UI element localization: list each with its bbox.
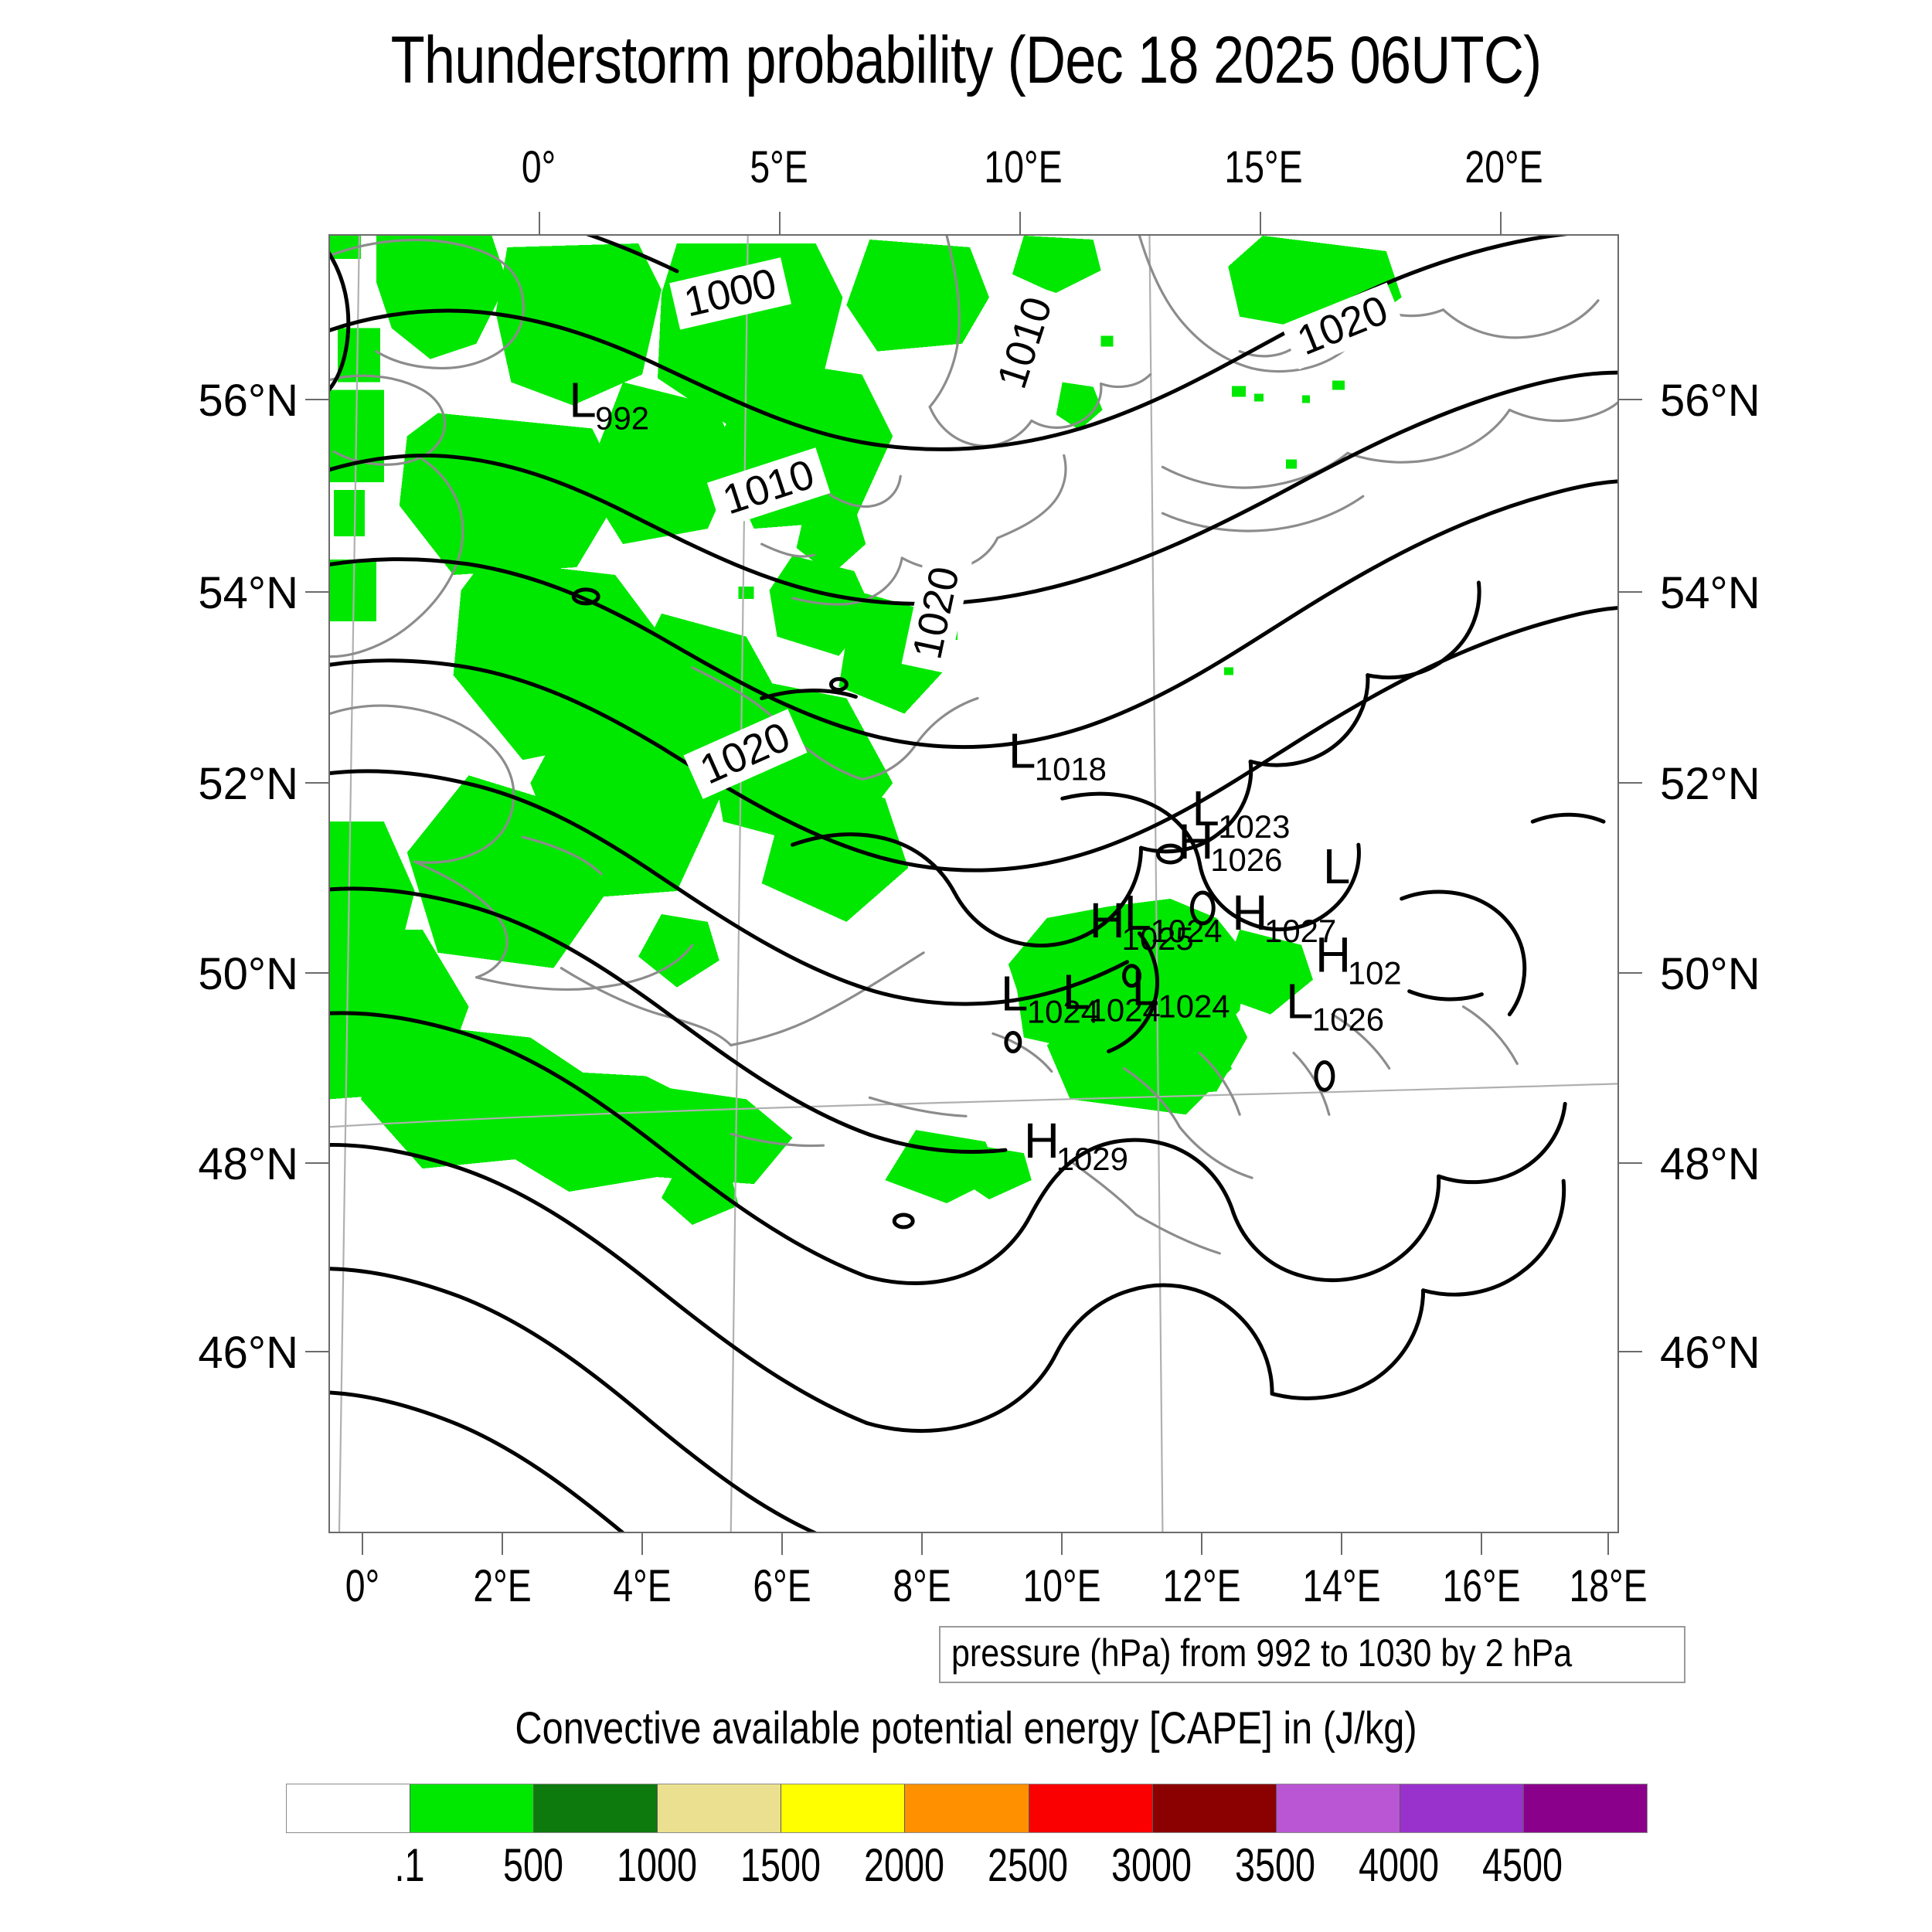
tick-top-4 [1500,212,1502,235]
bottom-axis-label-9: 18°E [1568,1564,1648,1609]
colorbar-label-5: 2500 [988,1841,1068,1890]
tick-top-0 [539,212,540,235]
pressure-center-symbol: H [1024,1113,1060,1168]
tick-bot-8 [1481,1533,1482,1555]
tick-bot-5 [1061,1533,1063,1555]
tick-right-1 [1619,591,1642,593]
pressure-center-symbol: L [1132,961,1159,1016]
right-axis-label-5: 46°N [1660,1331,1760,1376]
pressure-center-symbol: L [569,372,596,427]
tick-bot-1 [502,1533,503,1555]
colorbar-swatch-6 [1029,1784,1152,1832]
tick-right-0 [1619,399,1642,400]
left-axis-label-5: 46°N [182,1331,298,1376]
pressure-center-value: 1023 [1218,808,1290,845]
pressure-center-value: 1026 [1312,1002,1384,1038]
bottom-axis-label-8: 16°E [1441,1564,1522,1609]
colorbar-tick-labels: .1 500 1000 1500 2000 2500 3000 3500 400… [0,1841,1932,1895]
tick-bot-6 [1201,1533,1202,1555]
bottom-axis-label-1: 2°E [467,1564,537,1609]
tick-top-3 [1260,212,1261,235]
colorbar-label-4: 2000 [864,1841,944,1890]
pressure-center-symbol: L [1001,966,1028,1022]
pressure-center-symbol: L [1009,723,1036,778]
tick-bot-4 [921,1533,923,1555]
pressure-center-value: 992 [595,400,649,436]
tick-bot-7 [1341,1533,1342,1555]
bottom-axis-label-3: 6°E [747,1564,817,1609]
tick-bot-9 [1607,1533,1609,1555]
tick-left-1 [305,591,328,593]
colorbar-swatch-3 [657,1784,781,1832]
top-axis-label-3: 15°E [1224,145,1294,190]
colorbar-caption: Convective available potential energy [C… [155,1704,1777,1753]
tick-top-2 [1019,212,1021,235]
top-axis-label-4: 20°E [1464,145,1535,190]
tick-left-4 [305,1162,328,1164]
colorbar-swatch-10 [1523,1784,1647,1832]
colorbar-label-6: 3000 [1111,1841,1192,1890]
bottom-axis-label-7: 14°E [1301,1564,1382,1609]
isobar-label: 1020 [903,563,968,663]
left-axis-label-4: 48°N [182,1142,298,1187]
tick-bot-0 [362,1533,363,1555]
right-axis-label-1: 54°N [1660,571,1760,616]
pressure-center-symbol: L [1124,885,1151,940]
top-axis-label-0: 0° [503,145,573,190]
colorbar-swatch-4 [781,1784,904,1832]
pressure-interval-note: pressure (hPa) from 992 to 1030 by 2 hPa [939,1626,1685,1683]
pressure-center-value: 1026 [1210,842,1282,878]
pressure-interval-text: pressure (hPa) from 992 to 1030 by 2 hPa [951,1632,1572,1674]
right-axis-label-2: 52°N [1660,762,1760,807]
pressure-center-symbol: L [1286,974,1313,1029]
colorbar-swatch-0 [287,1784,410,1832]
right-axis-label-4: 48°N [1660,1142,1760,1187]
colorbar-label-1: 500 [503,1841,563,1890]
right-axis-label-0: 56°N [1660,379,1760,423]
cape-shading-layer [330,236,1402,1225]
tick-right-2 [1619,782,1642,784]
colorbar-label-7: 3500 [1235,1841,1315,1890]
tick-bot-3 [781,1533,783,1555]
tick-bot-2 [641,1533,643,1555]
page-title: Thunderstorm probability (Dec 18 2025 06… [155,22,1777,99]
pressure-center-symbol: L [1063,964,1090,1020]
colorbar-label-0: .1 [394,1841,424,1890]
pressure-center-value: 102 [1348,955,1402,992]
tick-right-5 [1619,1351,1642,1352]
pressure-center-symbol: L [1323,838,1350,894]
tick-right-4 [1619,1162,1642,1164]
top-axis-label-1: 5°E [743,145,814,190]
tick-left-2 [305,782,328,784]
colorbar-label-9: 4500 [1482,1841,1563,1890]
right-axis-label-3: 50°N [1660,952,1760,997]
bottom-axis-label-4: 8°E [886,1564,957,1609]
colorbar-label-8: 4000 [1359,1841,1439,1890]
pressure-center-value: 1018 [1035,750,1107,787]
left-axis-label-3: 50°N [182,952,298,997]
colorbar[interactable] [286,1784,1648,1833]
colorbar-swatch-8 [1276,1784,1400,1832]
pressure-center-value: 1029 [1056,1141,1128,1177]
tick-left-5 [305,1351,328,1352]
left-axis-label-1: 54°N [182,571,298,616]
colorbar-swatch-2 [533,1784,657,1832]
left-axis-label-2: 52°N [182,762,298,807]
pressure-center-value: 1024 [1150,913,1222,949]
colorbar-label-3: 1500 [740,1841,821,1890]
tick-left-3 [305,972,328,974]
bottom-axis-label-6: 12°E [1162,1564,1242,1609]
pressure-center-symbol: H [1090,893,1125,948]
bottom-axis-label-2: 4°E [607,1564,677,1609]
pressure-center-symbol: H [1315,927,1351,983]
bottom-axis-label-5: 10°E [1022,1564,1102,1609]
tick-right-3 [1619,972,1642,974]
tick-top-1 [779,212,781,235]
pressure-center-symbol: H [1178,814,1213,869]
pressure-center-symbol: H [1232,885,1267,940]
colorbar-swatch-9 [1400,1784,1523,1832]
left-axis-label-0: 56°N [182,379,298,423]
map-panel[interactable]: 1000 1010 1010 1020 1020 [328,234,1619,1533]
bottom-axis-label-0: 0° [327,1564,397,1609]
pressure-center-value: 1024 [1158,988,1230,1025]
weather-map-svg: 1000 1010 1010 1020 1020 [330,236,1617,1532]
top-axis-label-2: 10°E [984,145,1054,190]
colorbar-swatch-1 [410,1784,533,1832]
colorbar-label-2: 1000 [617,1841,697,1890]
colorbar-swatch-7 [1152,1784,1276,1832]
colorbar-swatch-5 [904,1784,1028,1832]
tick-left-0 [305,399,328,400]
